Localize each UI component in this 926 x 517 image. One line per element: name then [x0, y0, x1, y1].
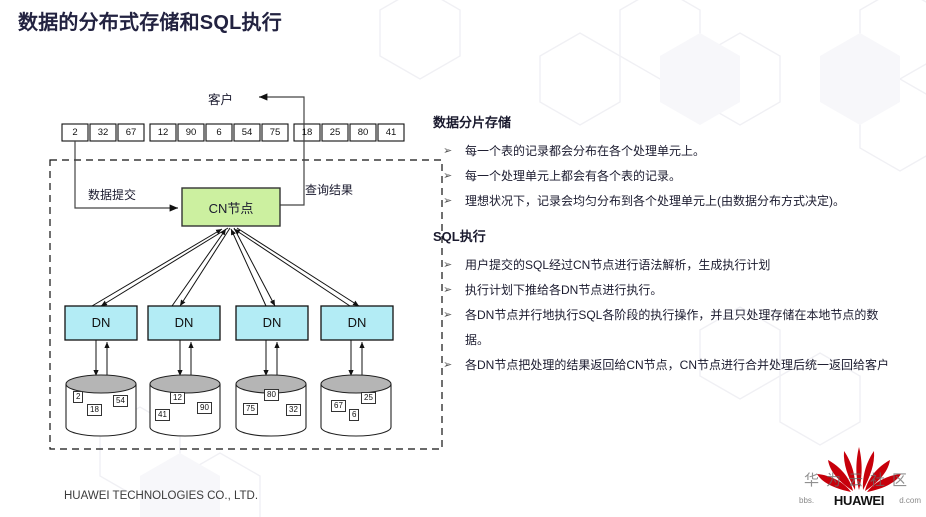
bullet-list-storage: ➢ 每一个表的记录都会分布在各个处理单元上。 ➢ 每一个处理单元上都会有各个表的…: [433, 139, 895, 214]
bullet-arrow-icon: ➢: [443, 353, 452, 378]
bullet-text: 各DN节点把处理的结果返回给CN节点，CN节点进行合并处理后统一返回给客户: [465, 358, 889, 372]
bullet-text: 各DN节点并行地执行SQL各阶段的执行操作，并且只处理存储在本地节点的数据。: [465, 308, 878, 347]
footer-company-text: HUAWEI TECHNOLOGIES CO., LTD.: [64, 490, 258, 502]
db3-value-0: 80: [264, 389, 279, 401]
section-heading-sql: SQL执行: [433, 226, 895, 245]
client-label: 客户: [208, 89, 233, 108]
bullet-text: 执行计划下推给各DN节点进行执行。: [465, 283, 662, 297]
list-item: ➢ 每一个表的记录都会分布在各个处理单元上。: [433, 139, 895, 164]
db3-value-1: 75: [243, 403, 258, 415]
community-watermark-cn: 华为云社区: [795, 469, 923, 490]
db2-value-1: 90: [197, 402, 212, 414]
db1-value-0: 2: [73, 391, 83, 403]
data-cell-5: 6: [206, 126, 232, 140]
architecture-diagram: 2 32 67 12 90 6 54 75 18 25 80 41 客户 数据提…: [0, 0, 463, 517]
bullet-text: 用户提交的SQL经过CN节点进行语法解析，生成执行计划: [465, 258, 770, 272]
data-cell-2: 67: [118, 126, 144, 140]
bullet-arrow-icon: ➢: [443, 278, 452, 303]
db2-value-2: 41: [155, 409, 170, 421]
dn-node-label-4: DN: [321, 307, 393, 339]
data-cell-3: 12: [150, 126, 176, 140]
list-item: ➢ 各DN节点把处理的结果返回给CN节点，CN节点进行合并处理后统一返回给客户: [433, 353, 895, 378]
db1-value-2: 18: [87, 404, 102, 416]
data-cell-8: 18: [294, 126, 320, 140]
page-title: 数据的分布式存储和SQL执行: [18, 6, 282, 35]
list-item: ➢ 每一个处理单元上都会有各个表的记录。: [433, 164, 895, 189]
bullet-arrow-icon: ➢: [443, 139, 452, 164]
data-cell-6: 54: [234, 126, 260, 140]
list-item: ➢ 各DN节点并行地执行SQL各阶段的执行操作，并且只处理存储在本地节点的数据。: [433, 303, 895, 353]
bullet-arrow-icon: ➢: [443, 189, 452, 214]
bullet-arrow-icon: ➢: [443, 164, 452, 189]
db1-value-1: 54: [113, 395, 128, 407]
db2-value-0: 12: [170, 392, 185, 404]
cn-node-label: CN节点: [182, 192, 280, 226]
list-item: ➢ 用户提交的SQL经过CN节点进行语法解析，生成执行计划: [433, 253, 895, 278]
data-cell-1: 32: [90, 126, 116, 140]
db4-value-2: 6: [349, 409, 359, 421]
dn-node-label-2: DN: [148, 307, 220, 339]
dn-node-label-3: DN: [236, 307, 308, 339]
bullet-arrow-icon: ➢: [443, 253, 452, 278]
bullet-text: 每一个处理单元上都会有各个表的记录。: [465, 169, 681, 183]
data-cell-10: 80: [350, 126, 376, 140]
huawei-logo: 华为云社区 HUAWEI bbs. d.com: [795, 443, 923, 515]
data-cell-0: 2: [62, 126, 88, 140]
bullet-text: 每一个表的记录都会分布在各个处理单元上。: [465, 144, 705, 158]
slide-canvas: 数据的分布式存储和SQL执行: [0, 0, 926, 517]
db4-value-1: 67: [331, 400, 346, 412]
section-heading-storage: 数据分片存储: [433, 112, 895, 131]
data-cell-7: 75: [262, 126, 288, 140]
data-cell-9: 25: [322, 126, 348, 140]
bullet-text: 理想状况下，记录会均匀分布到各个处理单元上(由数据分布方式决定)。: [465, 194, 845, 208]
data-submit-label: 数据提交: [88, 186, 136, 203]
query-result-label: 查询结果: [305, 181, 353, 198]
domain-suffix-text: d.com: [899, 496, 921, 505]
dn-node-label-1: DN: [65, 307, 137, 339]
list-item: ➢ 理想状况下，记录会均匀分布到各个处理单元上(由数据分布方式决定)。: [433, 189, 895, 214]
db4-value-0: 25: [361, 392, 376, 404]
data-cell-4: 90: [178, 126, 204, 140]
diagram-vector-layer: [0, 0, 463, 517]
content-text-panel: 数据分片存储 ➢ 每一个表的记录都会分布在各个处理单元上。 ➢ 每一个处理单元上…: [433, 112, 895, 390]
bullet-arrow-icon: ➢: [443, 303, 452, 328]
bullet-list-sql: ➢ 用户提交的SQL经过CN节点进行语法解析，生成执行计划 ➢ 执行计划下推给各…: [433, 253, 895, 378]
bbs-prefix-text: bbs.: [799, 496, 814, 505]
list-item: ➢ 执行计划下推给各DN节点进行执行。: [433, 278, 895, 303]
db3-value-2: 32: [286, 404, 301, 416]
data-cell-11: 41: [378, 126, 404, 140]
